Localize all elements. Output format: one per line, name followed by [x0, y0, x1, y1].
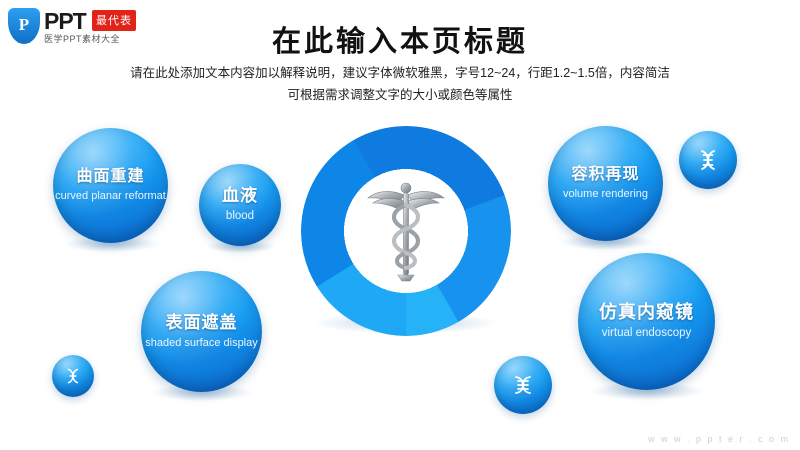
bubble-title-cn: 表面遮盖	[166, 313, 238, 333]
subtitle-line-1: 请在此处添加文本内容加以解释说明，建议字体微软雅黑，字号12~24，行距1.2~…	[0, 62, 800, 84]
dna-helix-icon-bubble-top[interactable]	[679, 131, 737, 189]
caduceus-medical-symbol-icon	[346, 171, 466, 291]
bubble-title-en: virtual endoscopy	[602, 327, 692, 341]
center-donut-graphic	[301, 126, 511, 336]
bubble-title-en: blood	[226, 210, 254, 224]
bubble-curved-planar-reformat[interactable]: 曲面重建 curved planar reformat	[53, 128, 168, 243]
dna-helix-icon	[508, 370, 538, 400]
bubble-title-cn: 曲面重建	[76, 168, 144, 186]
dna-helix-icon-bubble-left[interactable]	[52, 355, 94, 397]
bubble-title-cn: 仿真内窥镜	[599, 302, 694, 323]
bubble-blood[interactable]: 血液 blood	[199, 164, 281, 246]
page-subtitle: 请在此处添加文本内容加以解释说明，建议字体微软雅黑，字号12~24，行距1.2~…	[0, 62, 800, 106]
subtitle-line-2: 可根据需求调整文字的大小或颜色等属性	[0, 84, 800, 106]
bubble-title-cn: 血液	[222, 186, 258, 206]
slide-canvas: P PPT 最代表 医学PPT素材大全 在此输入本页标题 请在此处添加文本内容加…	[0, 0, 800, 450]
site-watermark: w w w . p p t e r . c o m	[648, 434, 790, 444]
dna-helix-icon	[62, 365, 84, 387]
bubble-title-cn: 容积再现	[571, 166, 639, 184]
dna-helix-icon-bubble-bottom[interactable]	[494, 356, 552, 414]
bubble-volume-rendering[interactable]: 容积再现 volume rendering	[548, 126, 663, 241]
bubble-title-en: curved planar reformat	[55, 190, 166, 203]
bubble-virtual-endoscopy[interactable]: 仿真内窥镜 virtual endoscopy	[578, 253, 715, 390]
dna-helix-icon	[693, 145, 723, 175]
bubble-title-en: shaded surface display	[145, 337, 258, 350]
page-title: 在此输入本页标题	[0, 18, 800, 60]
bubble-shaded-surface-display[interactable]: 表面遮盖 shaded surface display	[141, 271, 262, 392]
bubble-title-en: volume rendering	[563, 188, 648, 201]
